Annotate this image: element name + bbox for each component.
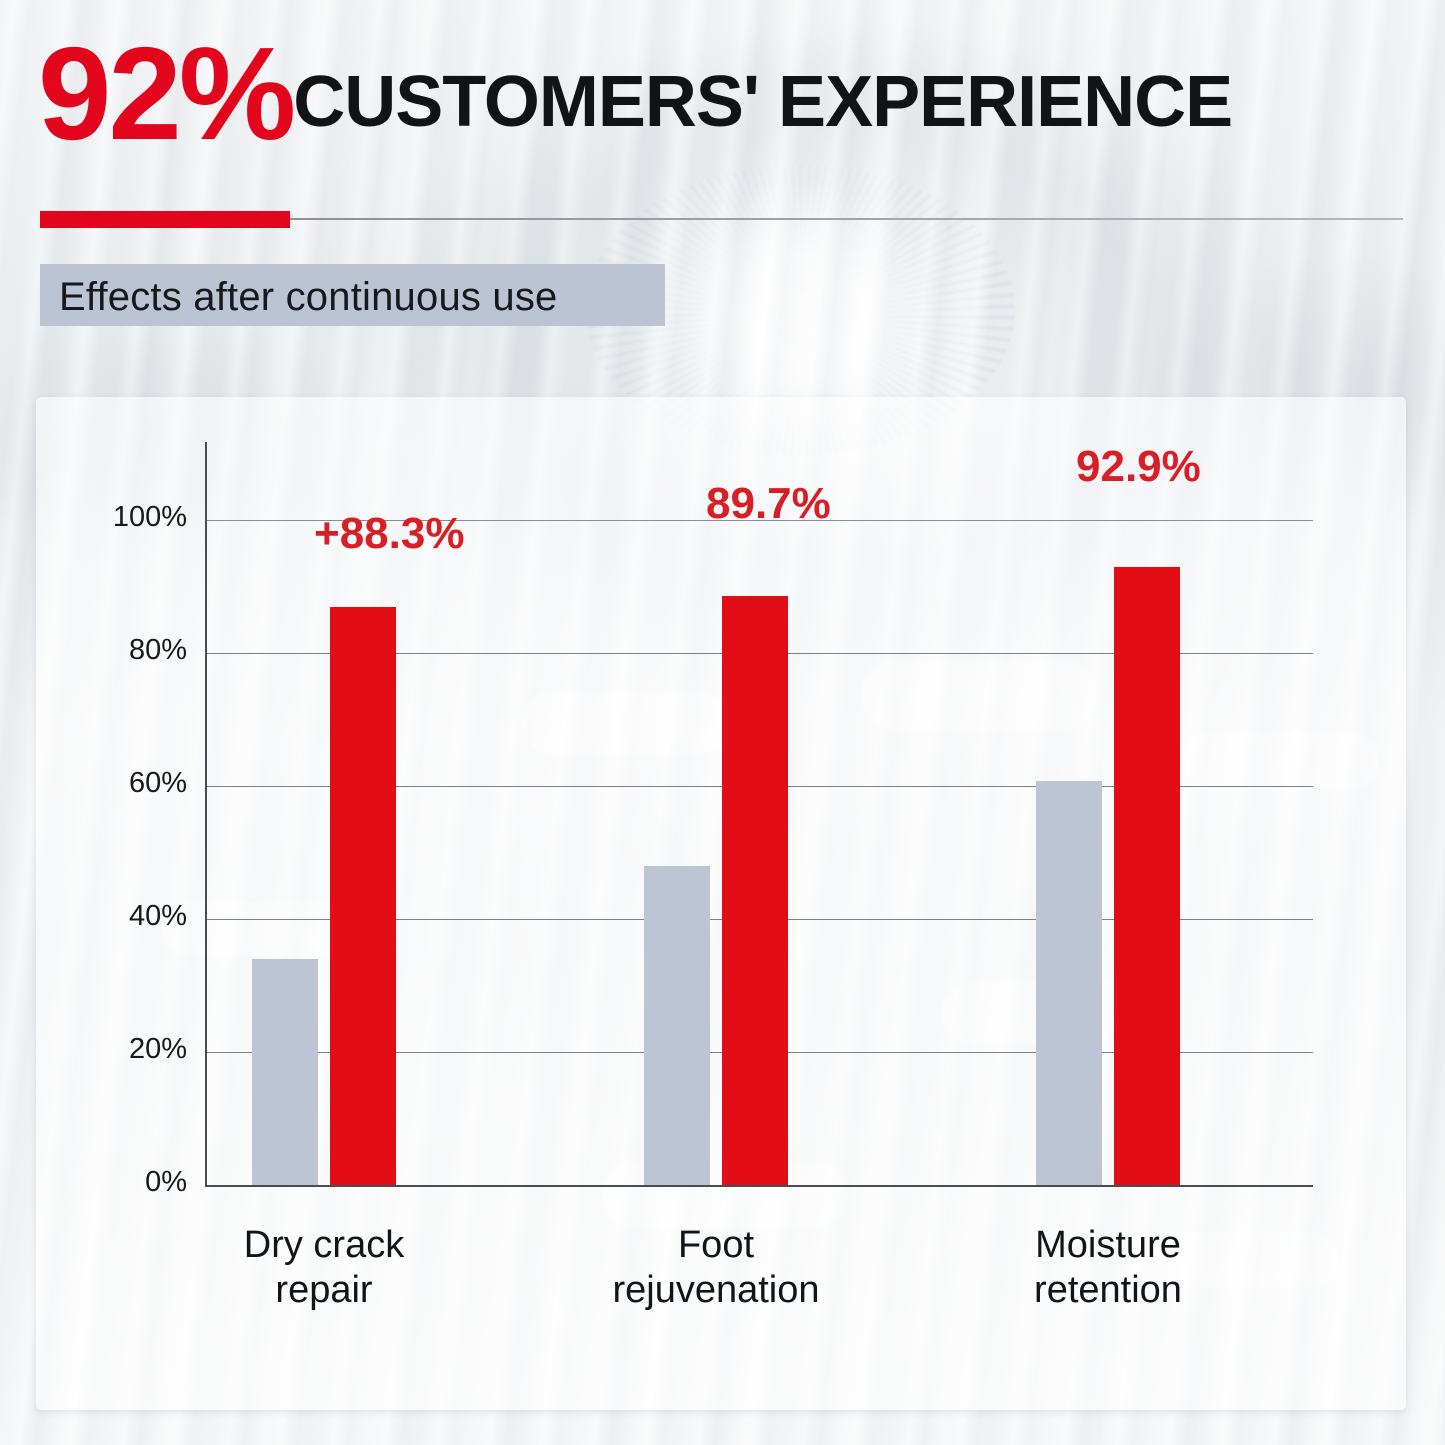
y-tick-label: 0% — [67, 1166, 187, 1199]
headline-percent: 92% — [38, 20, 293, 167]
accent-rule — [40, 211, 290, 228]
x-tick-label-2: Moistureretention — [958, 1223, 1258, 1313]
bar-after-2 — [1114, 567, 1180, 1185]
x-tick-label-1: Footrejuvenation — [566, 1223, 866, 1313]
data-label-0: +88.3% — [314, 509, 464, 559]
x-tick-label-0: Dry crackrepair — [174, 1223, 474, 1313]
y-tick-label: 100% — [67, 501, 187, 534]
x-tick-label-line: retention — [958, 1268, 1258, 1313]
header: 92%CUSTOMERS' EXPERIENCE Effects after c… — [0, 0, 1445, 380]
y-tick-label: 20% — [67, 1033, 187, 1066]
headline-text: CUSTOMERS' EXPERIENCE — [293, 62, 1232, 142]
page-title: 92%CUSTOMERS' EXPERIENCE — [38, 28, 1232, 160]
data-label-1: 89.7% — [706, 479, 831, 529]
chart-card: 0%20%40%60%80%100% +88.3%89.7%92.9% Dry … — [36, 397, 1406, 1410]
y-axis-line — [205, 442, 207, 1186]
divider-line — [290, 218, 1403, 220]
x-tick-label-line: Dry crack — [174, 1223, 474, 1268]
x-axis-line — [205, 1185, 1313, 1187]
y-tick-label: 60% — [67, 767, 187, 800]
data-label-2: 92.9% — [1076, 442, 1201, 492]
subtitle: Effects after continuous use — [59, 275, 558, 320]
x-tick-label-line: Foot — [566, 1223, 866, 1268]
bar-before-0 — [252, 959, 318, 1185]
bar-chart: 0%20%40%60%80%100% +88.3%89.7%92.9% Dry … — [36, 397, 1406, 1410]
x-tick-label-line: repair — [174, 1268, 474, 1313]
bar-before-2 — [1036, 781, 1102, 1185]
y-tick-label: 80% — [67, 634, 187, 667]
x-tick-label-line: Moisture — [958, 1223, 1258, 1268]
bar-before-1 — [644, 866, 710, 1185]
y-tick-label: 40% — [67, 900, 187, 933]
bar-after-1 — [722, 596, 788, 1185]
x-tick-label-line: rejuvenation — [566, 1268, 866, 1313]
bar-after-0 — [330, 607, 396, 1185]
header-divider — [40, 211, 1403, 229]
